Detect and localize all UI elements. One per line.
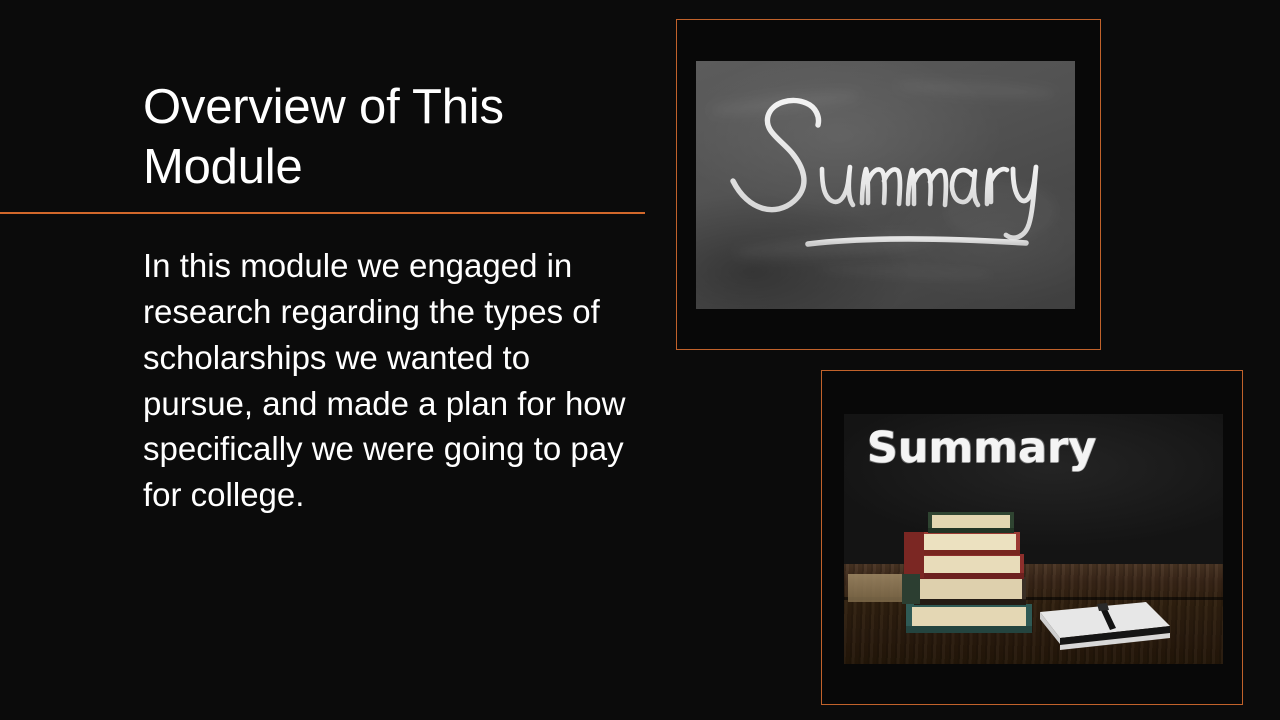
page-title: Overview of This Module [143, 78, 663, 198]
book-dark [914, 577, 1026, 605]
chalkboard-summary-image [696, 61, 1075, 309]
book-spine-red [904, 532, 924, 578]
book-teal [906, 604, 1032, 633]
book-stack [844, 414, 1223, 664]
image-frame-top [676, 19, 1101, 350]
title-divider-rule [0, 212, 645, 214]
books-chalkboard-image: Summary [844, 414, 1223, 664]
handwritten-summary-text [696, 61, 1075, 309]
image-frame-bottom: Summary [821, 370, 1243, 705]
book-red-lower [916, 554, 1024, 579]
book-green [928, 512, 1014, 533]
body-block: In this module we engaged in research re… [143, 243, 633, 518]
body-paragraph: In this module we engaged in research re… [143, 243, 633, 518]
presentation-slide: Overview of This Module In this module w… [0, 0, 1280, 720]
book-spine-green [902, 574, 920, 604]
book-red-upper [920, 532, 1020, 555]
title-block: Overview of This Module [143, 78, 663, 198]
